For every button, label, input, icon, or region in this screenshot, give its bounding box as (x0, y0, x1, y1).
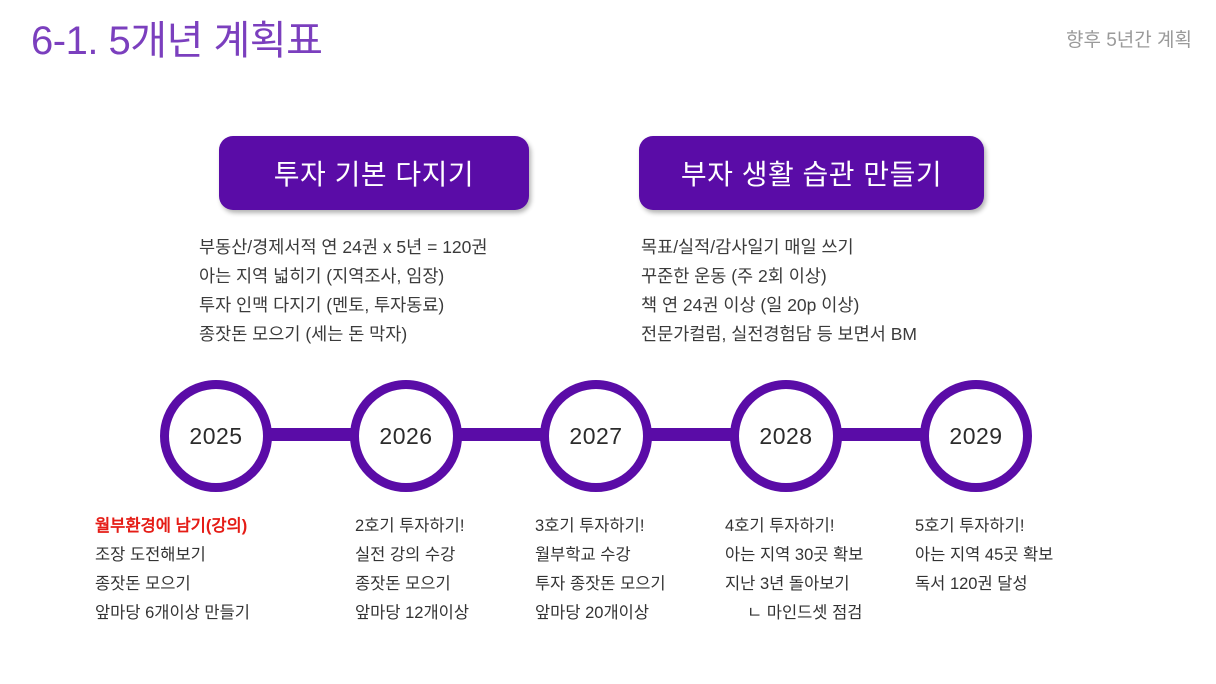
year-plan-line: 5호기 투자하기! (915, 512, 1053, 541)
theme-bullet-line: 책 연 24권 이상 (일 20p 이상) (641, 291, 917, 320)
timeline-node-2029[interactable]: 2029 (920, 380, 1032, 492)
timeline-node-year: 2028 (759, 423, 812, 450)
year-plan-line: 투자 종잣돈 모으기 (535, 570, 666, 599)
timeline-node-2028[interactable]: 2028 (730, 380, 842, 492)
timeline-node-year: 2029 (949, 423, 1002, 450)
timeline-connector (836, 428, 926, 441)
theme-bullet-line: 목표/실적/감사일기 매일 쓰기 (641, 233, 917, 262)
theme-banner-rich-habits[interactable]: 부자 생활 습관 만들기 (639, 136, 984, 210)
timeline-node-year: 2026 (379, 423, 432, 450)
year-plan-2028: 4호기 투자하기!아는 지역 30곳 확보지난 3년 돌아보기ㄴ 마인드셋 점검 (725, 512, 863, 628)
timeline-node-year: 2025 (189, 423, 242, 450)
timeline: 20252026202720282029 (0, 380, 1216, 492)
year-plan-line: 앞마당 6개이상 만들기 (95, 599, 250, 628)
theme-banner-label: 투자 기본 다지기 (274, 153, 474, 193)
year-plan-2027: 3호기 투자하기!월부학교 수강투자 종잣돈 모으기앞마당 20개이상 (535, 512, 666, 628)
year-plan-2026: 2호기 투자하기!실전 강의 수강종잣돈 모으기앞마당 12개이상 (355, 512, 469, 628)
theme-bullets-investment-basics: 부동산/경제서적 연 24권 x 5년 = 120권아는 지역 넓히기 (지역조… (199, 233, 488, 349)
year-plan-line: 2호기 투자하기! (355, 512, 469, 541)
theme-bullets-rich-habits: 목표/실적/감사일기 매일 쓰기꾸준한 운동 (주 2회 이상)책 연 24권 … (641, 233, 917, 349)
timeline-node-2027[interactable]: 2027 (540, 380, 652, 492)
year-plan-line: 4호기 투자하기! (725, 512, 863, 541)
year-plan-line: 종잣돈 모으기 (95, 570, 250, 599)
year-plan-2025: 월부환경에 남기(강의)조장 도전해보기종잣돈 모으기앞마당 6개이상 만들기 (95, 512, 250, 628)
page-title: 6-1. 5개년 계획표 (31, 18, 322, 64)
year-plan-2029: 5호기 투자하기!아는 지역 45곳 확보독서 120권 달성 (915, 512, 1053, 599)
year-plan-line: 앞마당 20개이상 (535, 599, 666, 628)
year-plan-line: ㄴ 마인드셋 점검 (725, 599, 863, 628)
theme-bullet-line: 꾸준한 운동 (주 2회 이상) (641, 262, 917, 291)
timeline-node-2025[interactable]: 2025 (160, 380, 272, 492)
year-plan-line: 앞마당 12개이상 (355, 599, 469, 628)
theme-bullet-line: 아는 지역 넓히기 (지역조사, 임장) (199, 262, 488, 291)
timeline-connector (646, 428, 736, 441)
year-plan-line: 아는 지역 30곳 확보 (725, 541, 863, 570)
year-plan-highlight-line: 월부환경에 남기(강의) (95, 512, 250, 541)
year-plan-line: 실전 강의 수강 (355, 541, 469, 570)
year-plan-line: 독서 120권 달성 (915, 570, 1053, 599)
theme-bullet-line: 전문가컬럼, 실전경험담 등 보면서 BM (641, 320, 917, 349)
theme-banner-investment-basics[interactable]: 투자 기본 다지기 (219, 136, 529, 210)
year-plan-line: 지난 3년 돌아보기 (725, 570, 863, 599)
theme-banner-label: 부자 생활 습관 만들기 (681, 153, 942, 193)
timeline-node-year: 2027 (569, 423, 622, 450)
header-note: 향후 5년간 계획 (1066, 25, 1192, 52)
year-plan-line: 조장 도전해보기 (95, 541, 250, 570)
slide-canvas: 6-1. 5개년 계획표 향후 5년간 계획 투자 기본 다지기 부자 생활 습… (0, 0, 1216, 684)
year-plan-line: 종잣돈 모으기 (355, 570, 469, 599)
theme-bullet-line: 부동산/경제서적 연 24권 x 5년 = 120권 (199, 233, 488, 262)
year-plan-line: 아는 지역 45곳 확보 (915, 541, 1053, 570)
timeline-node-2026[interactable]: 2026 (350, 380, 462, 492)
year-plan-line: 3호기 투자하기! (535, 512, 666, 541)
theme-bullet-line: 투자 인맥 다지기 (멘토, 투자동료) (199, 291, 488, 320)
timeline-connector (266, 428, 356, 441)
year-plan-line: 월부학교 수강 (535, 541, 666, 570)
timeline-connector (456, 428, 546, 441)
theme-bullet-line: 종잣돈 모으기 (세는 돈 막자) (199, 320, 488, 349)
